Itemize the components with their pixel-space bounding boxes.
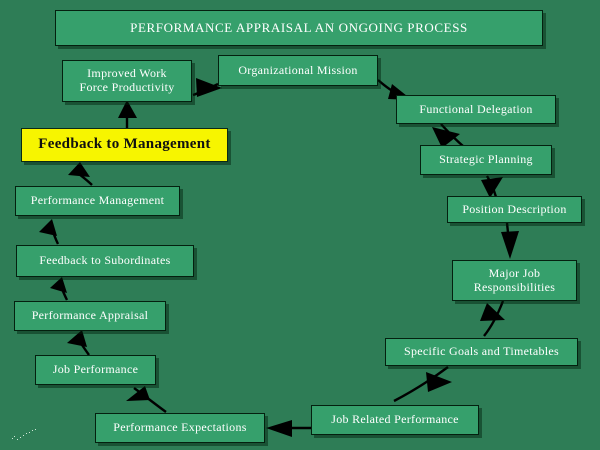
- arrow-job-related-to-expectations: [266, 420, 311, 437]
- node-improved-work-force-productivity[interactable]: Improved Work Force Productivity: [62, 60, 192, 102]
- node-label: Feedback to Management: [38, 136, 210, 153]
- node-feedback-to-management[interactable]: Feedback to Management: [21, 128, 228, 162]
- node-feedback-to-subordinates[interactable]: Feedback to Subordinates: [16, 245, 194, 277]
- node-strategic-planning[interactable]: Strategic Planning: [420, 145, 552, 175]
- node-label: Organizational Mission: [238, 64, 357, 78]
- node-label-line1: Improved Work: [87, 67, 167, 81]
- arrow-major-to-goals: [480, 301, 505, 336]
- node-title-label: PERFORMANCE APPRAISAL AN ONGOING PROCESS: [130, 21, 468, 36]
- arrow-expectations-to-job-performance: [126, 386, 166, 412]
- node-label-line2: Force Productivity: [79, 81, 174, 95]
- arrow-position-to-major: [501, 223, 519, 259]
- node-performance-appraisal[interactable]: Performance Appraisal: [14, 301, 166, 331]
- node-label: Feedback to Subordinates: [39, 254, 170, 268]
- node-major-job-responsibilities[interactable]: Major Job Responsibilities: [452, 260, 577, 301]
- arrow-feedback-mgmt-to-improved-work: [118, 100, 137, 128]
- node-label: Performance Management: [31, 194, 165, 208]
- node-organizational-mission[interactable]: Organizational Mission: [218, 55, 378, 86]
- node-job-related-performance[interactable]: Job Related Performance: [311, 405, 479, 435]
- node-label: Job Related Performance: [331, 413, 459, 427]
- node-specific-goals-and-timetables[interactable]: Specific Goals and Timetables: [385, 338, 578, 366]
- node-label: Functional Delegation: [419, 103, 532, 117]
- node-title: PERFORMANCE APPRAISAL AN ONGOING PROCESS: [55, 10, 543, 46]
- arrow-job-performance-to-appraisal: [67, 330, 89, 355]
- node-label: Performance Appraisal: [32, 309, 149, 323]
- node-functional-delegation[interactable]: Functional Delegation: [396, 95, 556, 124]
- diagram-canvas: PERFORMANCE APPRAISAL AN ONGOING PROCESS…: [0, 0, 600, 450]
- node-performance-management[interactable]: Performance Management: [15, 186, 180, 216]
- node-label: Performance Expectations: [113, 421, 246, 435]
- node-label: Specific Goals and Timetables: [404, 345, 559, 359]
- node-label-line1: Major Job: [489, 267, 541, 281]
- node-label-line2: Responsibilities: [474, 281, 555, 295]
- arrow-goals-to-job-related: [394, 367, 452, 401]
- arrow-appraisal-to-feedback-subordinates: [50, 277, 67, 300]
- node-position-description[interactable]: Position Description: [447, 196, 582, 223]
- arrow-performance-mgmt-to-feedback-mgmt: [68, 162, 92, 185]
- image-artifact: [10, 428, 42, 442]
- node-label: Strategic Planning: [439, 153, 533, 167]
- node-label: Job Performance: [53, 363, 138, 377]
- node-performance-expectations[interactable]: Performance Expectations: [95, 413, 265, 443]
- arrow-strategic-to-position: [481, 176, 503, 198]
- arrow-feedback-subordinates-to-management: [39, 219, 58, 244]
- node-job-performance[interactable]: Job Performance: [35, 355, 156, 385]
- node-label: Position Description: [462, 203, 566, 217]
